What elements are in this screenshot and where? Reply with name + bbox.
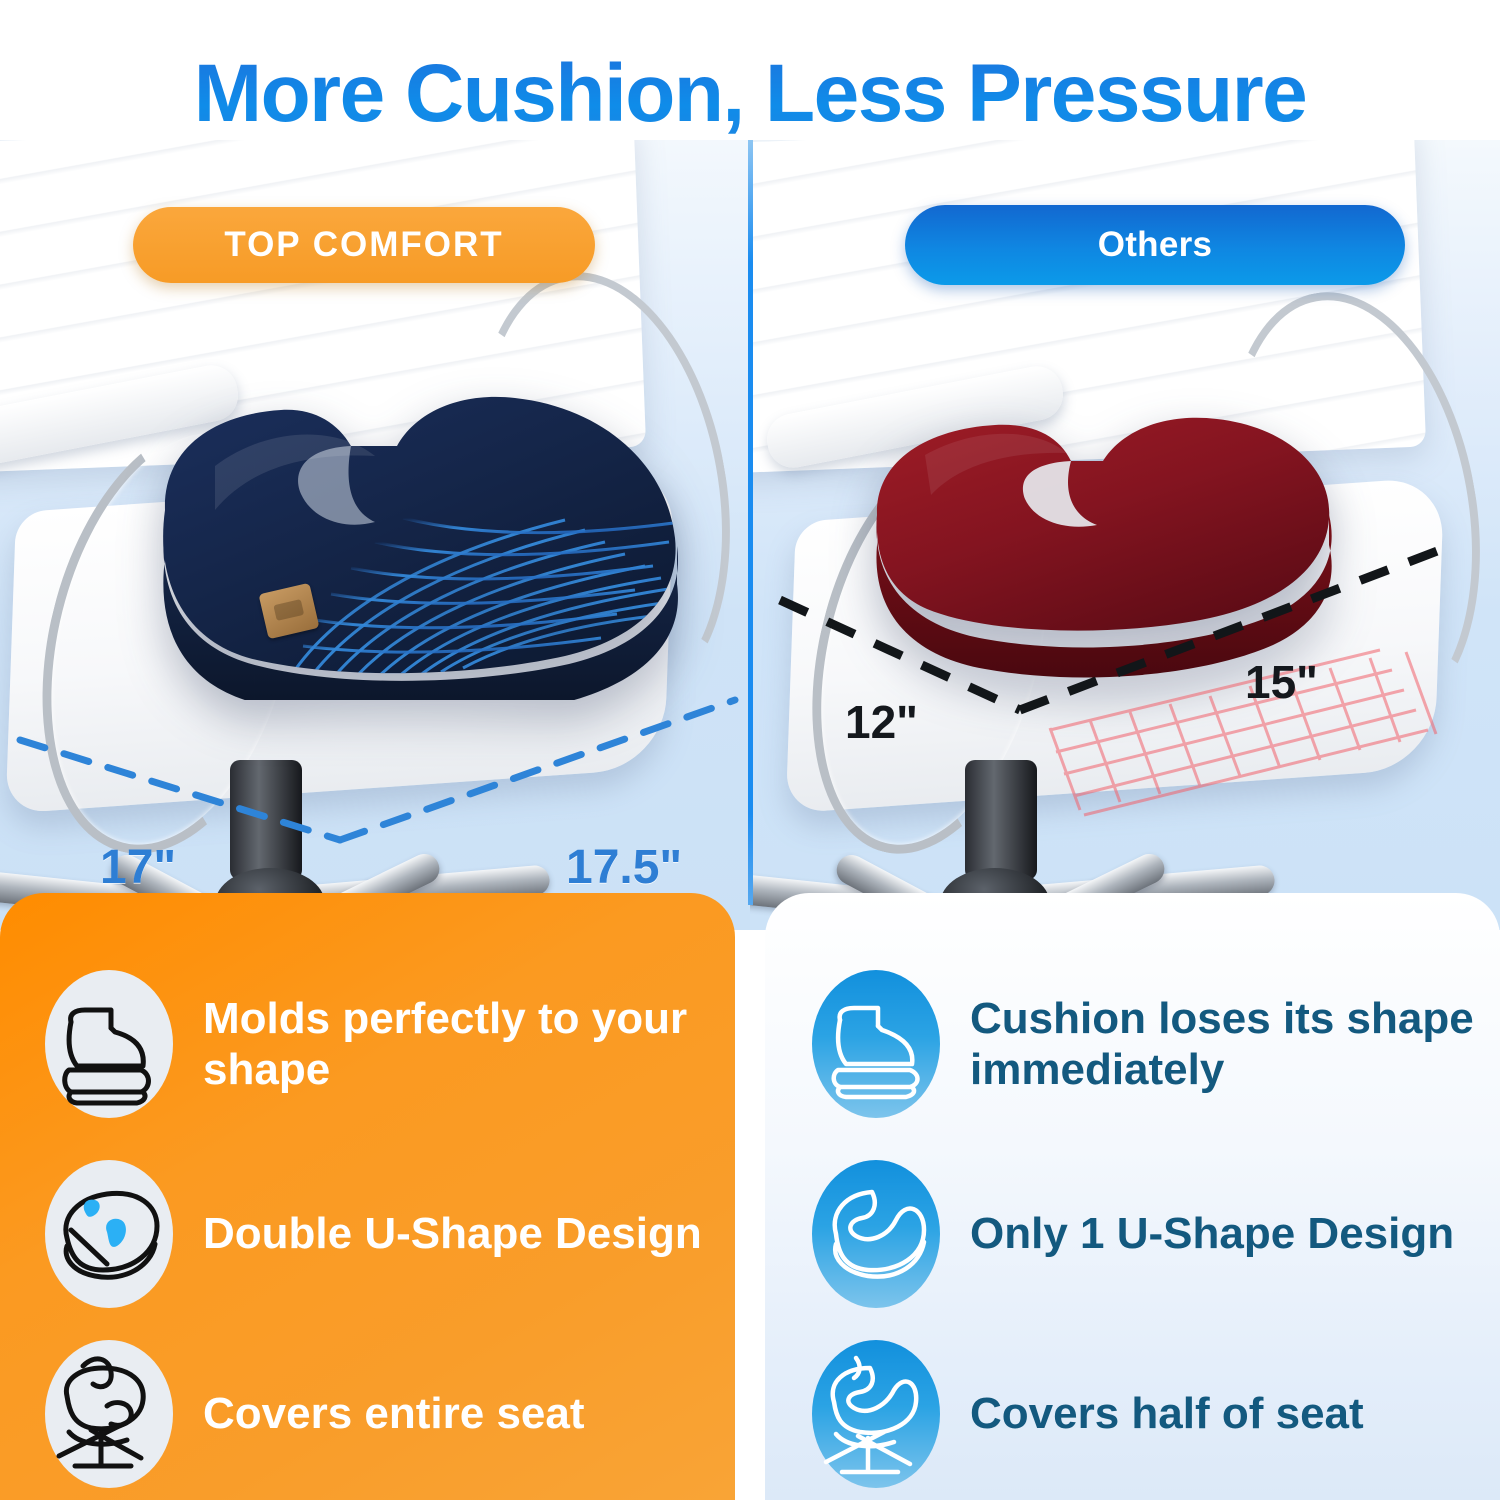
right-dimension-depth: 12" xyxy=(845,695,918,749)
left-dimension-width: 17.5" xyxy=(566,840,682,895)
small-cushion-on-chair-icon xyxy=(812,1340,940,1488)
panel-divider xyxy=(748,140,753,905)
feature-label: Covers entire seat xyxy=(203,1388,585,1439)
flat-cushion-side-profile-icon xyxy=(812,970,940,1118)
feature-row-molds-to-shape: Molds perfectly to your shape xyxy=(45,970,705,1118)
feature-row-covers-half-seat: Covers half of seat xyxy=(812,1340,1482,1488)
feature-label: Cushion loses its shape immediately xyxy=(970,993,1482,1095)
left-dimension-depth: 17" xyxy=(100,840,176,895)
feature-row-covers-entire-seat: Covers entire seat xyxy=(45,1340,705,1488)
single-u-shape-cushion-icon xyxy=(812,1160,940,1308)
top-comfort-badge[interactable]: TOP COMFORT xyxy=(133,207,595,283)
feature-label: Covers half of seat xyxy=(970,1388,1364,1439)
infographic-root: More Cushion, Less Pressure xyxy=(0,0,1500,1500)
cushion-on-chair-icon xyxy=(45,1340,173,1488)
feature-label: Only 1 U-Shape Design xyxy=(970,1208,1454,1259)
feature-row-single-u-shape: Only 1 U-Shape Design xyxy=(812,1160,1482,1308)
others-badge[interactable]: Others xyxy=(905,205,1405,285)
page-title: More Cushion, Less Pressure xyxy=(0,46,1500,142)
right-dimension-width: 15" xyxy=(1245,655,1318,709)
feature-label: Double U-Shape Design xyxy=(203,1208,702,1259)
feature-row-loses-shape: Cushion loses its shape immediately xyxy=(812,970,1482,1118)
feature-label: Molds perfectly to your shape xyxy=(203,993,705,1095)
feature-row-double-u-shape: Double U-Shape Design xyxy=(45,1160,705,1308)
double-u-shape-cushion-icon xyxy=(45,1160,173,1308)
cushion-side-profile-icon xyxy=(45,970,173,1118)
